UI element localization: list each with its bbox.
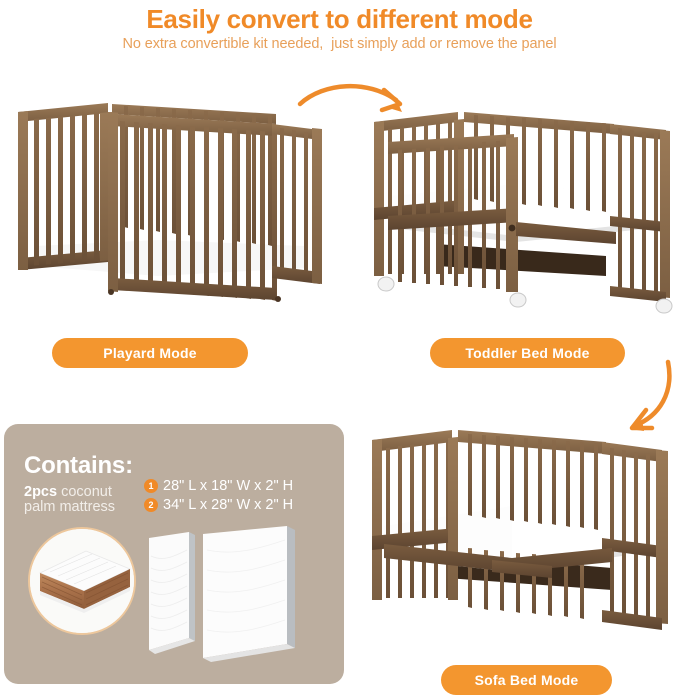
page-title: Easily convert to different mode: [0, 4, 679, 35]
mattress-dimension-2: 34" L x 28" W x 2" H: [163, 497, 293, 513]
sofa-bed-mode-illustration: [362, 420, 677, 652]
toddler-bed-mode-illustration: [366, 104, 676, 329]
product-infographic: Easily convert to different mode No extr…: [0, 0, 679, 699]
badge-number-1: 1: [144, 479, 158, 493]
list-item: 1 28" L x 18" W x 2" H: [144, 477, 293, 494]
contains-item-line1: coconut: [57, 484, 112, 500]
badge-sofa-bed-mode[interactable]: Sofa Bed Mode: [441, 665, 612, 695]
contains-description: 2pcs coconut palm mattress: [24, 485, 115, 515]
mattress-panels-image: [145, 522, 330, 662]
mattress-dimension-list: 1 28" L x 18" W x 2" H 2 34" L x 28" W x…: [144, 477, 293, 515]
mattress-panel-large: [203, 526, 295, 662]
coconut-mattress-cutaway-icon: [30, 529, 136, 635]
contains-quantity: 2pcs: [24, 484, 57, 500]
mattress-panel-small: [149, 532, 195, 654]
badge-number-2: 2: [144, 498, 158, 512]
playard-mode-illustration: [8, 100, 328, 315]
mattress-dimension-1: 28" L x 18" W x 2" H: [163, 478, 293, 494]
list-item: 2 34" L x 28" W x 2" H: [144, 496, 293, 513]
page-subtitle: No extra convertible kit needed, just si…: [0, 36, 679, 52]
badge-playard-mode[interactable]: Playard Mode: [52, 338, 248, 368]
coconut-fiber-closeup: [28, 527, 136, 635]
contains-item-line2: palm mattress: [24, 499, 115, 515]
contains-heading: Contains:: [24, 452, 133, 480]
badge-toddler-bed-mode[interactable]: Toddler Bed Mode: [430, 338, 625, 368]
